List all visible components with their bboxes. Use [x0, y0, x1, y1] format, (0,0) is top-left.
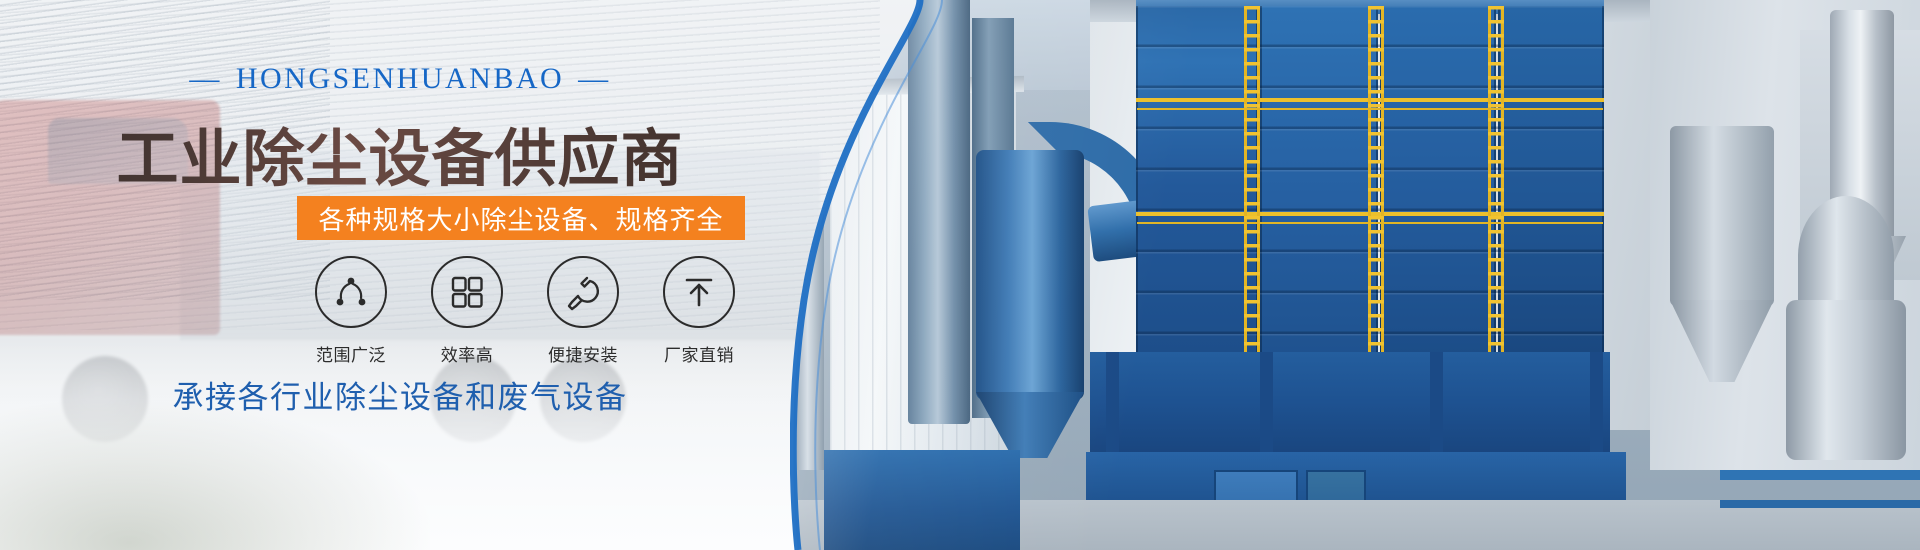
subtitle-text: 各种规格大小除尘设备、规格齐全: [318, 200, 723, 237]
feature-icon-circle: [547, 256, 619, 328]
feature-item-direct-sales[interactable]: 厂家直销: [658, 256, 740, 366]
safety-ladder: [1368, 6, 1384, 358]
subtitle-orange-bar: 各种规格大小除尘设备、规格齐全: [297, 196, 745, 240]
blue-railing: [1720, 500, 1920, 508]
safety-ladder: [1488, 6, 1504, 358]
feature-icon-circle: [431, 256, 503, 328]
feature-icon-circle: [663, 256, 735, 328]
feature-item-range[interactable]: 范围广泛: [310, 256, 392, 366]
feature-label: 便捷安装: [542, 341, 624, 366]
grey-cyclone-body: [1670, 126, 1774, 306]
eyebrow-text: HONGSENHUANBAO: [236, 62, 564, 95]
blue-cyclone-body: [976, 150, 1084, 400]
eyebrow-dash-left: —: [175, 62, 236, 95]
feature-icon-circle: [315, 256, 387, 328]
feature-label: 厂家直销: [658, 341, 740, 366]
feature-item-efficiency[interactable]: 效率高: [426, 256, 508, 366]
support-bracing: [1090, 352, 1610, 456]
industrial-plant-photo: [790, 0, 1920, 550]
brand-eyebrow: —HONGSENHUANBAO—: [0, 62, 800, 96]
support-leg: [1590, 352, 1603, 462]
baghouse-dust-collector: [1136, 6, 1604, 354]
hero-banner: —HONGSENHUANBAO— 工业除尘设备供应商 各种规格大小除尘设备、规格…: [0, 0, 1920, 550]
upload-arrow-icon: [680, 273, 718, 311]
wrench-icon: [563, 272, 603, 312]
feature-label: 效率高: [426, 341, 508, 366]
safety-ladder: [1244, 6, 1260, 358]
vertical-stack-primary: [908, 0, 970, 424]
support-leg: [1260, 352, 1273, 462]
support-leg: [1430, 352, 1443, 462]
network-share-icon: [331, 272, 371, 312]
blue-railing: [1720, 470, 1920, 480]
page-title: 工业除尘设备供应商: [0, 108, 800, 198]
feature-label: 范围广泛: [310, 341, 392, 366]
steel-tank-lower: [1786, 300, 1906, 460]
eyebrow-dash-right: —: [564, 62, 625, 95]
steel-tank-upper: [1798, 196, 1894, 316]
feature-item-installation[interactable]: 便捷安装: [542, 256, 624, 366]
tagline: 承接各行业除尘设备和废气设备: [0, 372, 800, 417]
feature-list: 范围广泛 效率高: [310, 256, 740, 366]
background-photo-right: [790, 0, 1920, 550]
support-leg: [1106, 352, 1119, 462]
hero-content: —HONGSENHUANBAO— 工业除尘设备供应商 各种规格大小除尘设备、规格…: [0, 0, 880, 550]
grid-squares-icon: [448, 273, 486, 311]
